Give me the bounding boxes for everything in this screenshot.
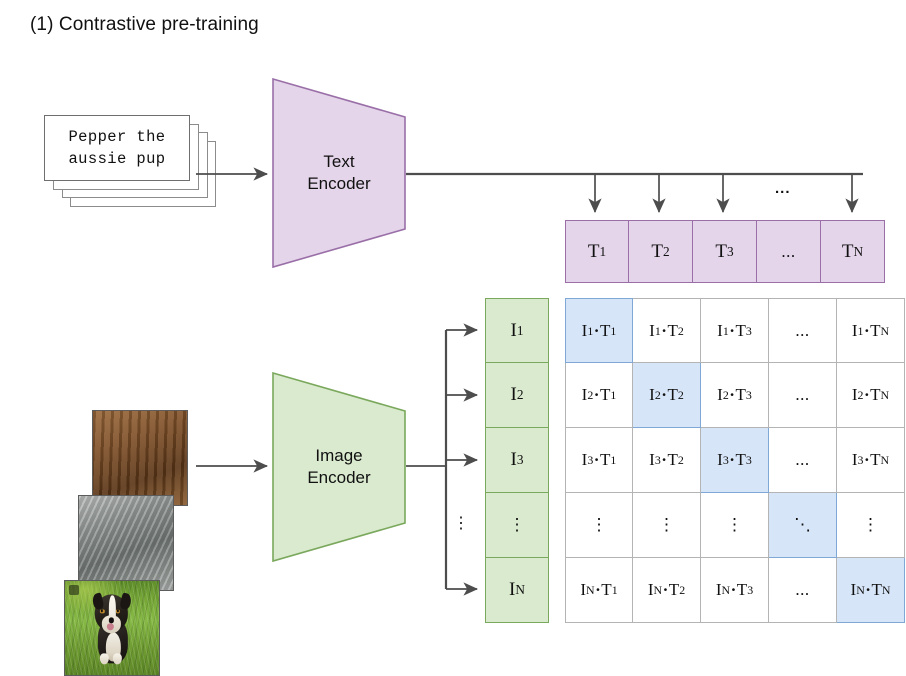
image-encoder[interactable]: Image Encoder — [272, 372, 406, 562]
matrix-cell-r1-c5[interactable]: I1·TN — [837, 298, 905, 363]
puppy-nose — [109, 618, 114, 623]
matrix-cell-r3-c3[interactable]: I3·T3 — [701, 428, 769, 493]
matrix-cell-r4-c1[interactable]: ⋮ — [565, 493, 633, 558]
matrix-row: I1·T1I1·T2I1·T3...I1·TN — [565, 298, 905, 363]
caption-line-2: aussie pup — [68, 148, 165, 170]
image-embedding-cell-3[interactable]: I3 — [485, 428, 549, 493]
image-embedding-cell-5[interactable]: IN — [485, 558, 549, 623]
puppy-ear-left — [91, 593, 104, 611]
text-embedding-cell-2[interactable]: T2 — [629, 220, 693, 283]
matrix-cell-r2-c1[interactable]: I2·T1 — [565, 363, 633, 428]
matrix-cell-r4-c4[interactable]: ⋱ — [769, 493, 837, 558]
puppy-eye-left — [100, 609, 104, 613]
matrix-cell-r3-c4[interactable]: ... — [769, 428, 837, 493]
image-embedding-cell-1[interactable]: I1 — [485, 298, 549, 363]
matrix-cell-r2-c3[interactable]: I2·T3 — [701, 363, 769, 428]
similarity-matrix: I1·T1I1·T2I1·T3...I1·TNI2·T1I2·T2I2·T3..… — [565, 298, 905, 623]
matrix-cell-r3-c2[interactable]: I3·T2 — [633, 428, 701, 493]
matrix-cell-r3-c5[interactable]: I3·TN — [837, 428, 905, 493]
matrix-cell-r2-c5[interactable]: I2·TN — [837, 363, 905, 428]
image-embedding-cell-4[interactable]: ⋮ — [485, 493, 549, 558]
photo-back-gray — [78, 495, 174, 591]
matrix-row: ⋮⋮⋮⋱⋮ — [565, 493, 905, 558]
diagram-canvas: (1) Contrastive pre-training Pepper the … — [0, 0, 906, 654]
matrix-cell-r4-c3[interactable]: ⋮ — [701, 493, 769, 558]
text-encoder-shape — [272, 78, 406, 268]
matrix-cell-r1-c2[interactable]: I1·T2 — [633, 298, 701, 363]
matrix-cell-r4-c5[interactable]: ⋮ — [837, 493, 905, 558]
photo-front-puppy — [64, 580, 160, 676]
photo-back-brown — [92, 410, 188, 506]
matrix-cell-r5-c4[interactable]: ... — [769, 558, 837, 623]
matrix-cell-r3-c1[interactable]: I3·T1 — [565, 428, 633, 493]
text-embedding-cell-1[interactable]: T1 — [565, 220, 629, 283]
text-embedding-cell-4[interactable]: ... — [757, 220, 821, 283]
matrix-cell-r1-c1[interactable]: I1·T1 — [565, 298, 633, 363]
puppy-eye-right — [115, 609, 119, 613]
matrix-cell-r1-c4[interactable]: ... — [769, 298, 837, 363]
matrix-row: I3·T1I3·T2I3·T3...I3·TN — [565, 428, 905, 493]
puppy-paw-right — [113, 653, 122, 665]
matrix-cell-r5-c3[interactable]: IN·T3 — [701, 558, 769, 623]
photo-corner-shadow — [69, 585, 79, 595]
matrix-cell-r4-c2[interactable]: ⋮ — [633, 493, 701, 558]
matrix-row: IN·T1IN·T2IN·T3...IN·TN — [565, 558, 905, 623]
matrix-cell-r2-c2[interactable]: I2·T2 — [633, 363, 701, 428]
image-bus-ellipsis: ⋮ — [453, 513, 469, 533]
matrix-cell-r5-c2[interactable]: IN·T2 — [633, 558, 701, 623]
puppy-ear-right — [119, 593, 132, 611]
text-embedding-cell-3[interactable]: T3 — [693, 220, 757, 283]
text-encoder[interactable]: Text Encoder — [272, 78, 406, 268]
matrix-cell-r2-c4[interactable]: ... — [769, 363, 837, 428]
caption-line-1: Pepper the — [68, 126, 165, 148]
text-embedding-cell-5[interactable]: TN — [821, 220, 885, 283]
text-embedding-row: T1T2T3...TN — [565, 220, 885, 283]
top-bus-ellipsis: ... — [775, 180, 791, 197]
photo-card-stack — [64, 388, 199, 513]
matrix-row: I2·T1I2·T2I2·T3...I2·TN — [565, 363, 905, 428]
page-title: (1) Contrastive pre-training — [30, 14, 259, 36]
image-encoder-shape — [272, 372, 406, 562]
matrix-cell-r5-c5[interactable]: IN·TN — [837, 558, 905, 623]
caption-card-stack: Pepper the aussie pup — [44, 115, 234, 220]
image-embedding-column: I1I2I3⋮IN — [485, 298, 549, 623]
matrix-cell-r5-c1[interactable]: IN·T1 — [565, 558, 633, 623]
matrix-cell-r1-c3[interactable]: I1·T3 — [701, 298, 769, 363]
caption-text: Pepper the aussie pup — [45, 116, 189, 180]
caption-card-front: Pepper the aussie pup — [44, 115, 190, 181]
image-embedding-cell-2[interactable]: I2 — [485, 363, 549, 428]
